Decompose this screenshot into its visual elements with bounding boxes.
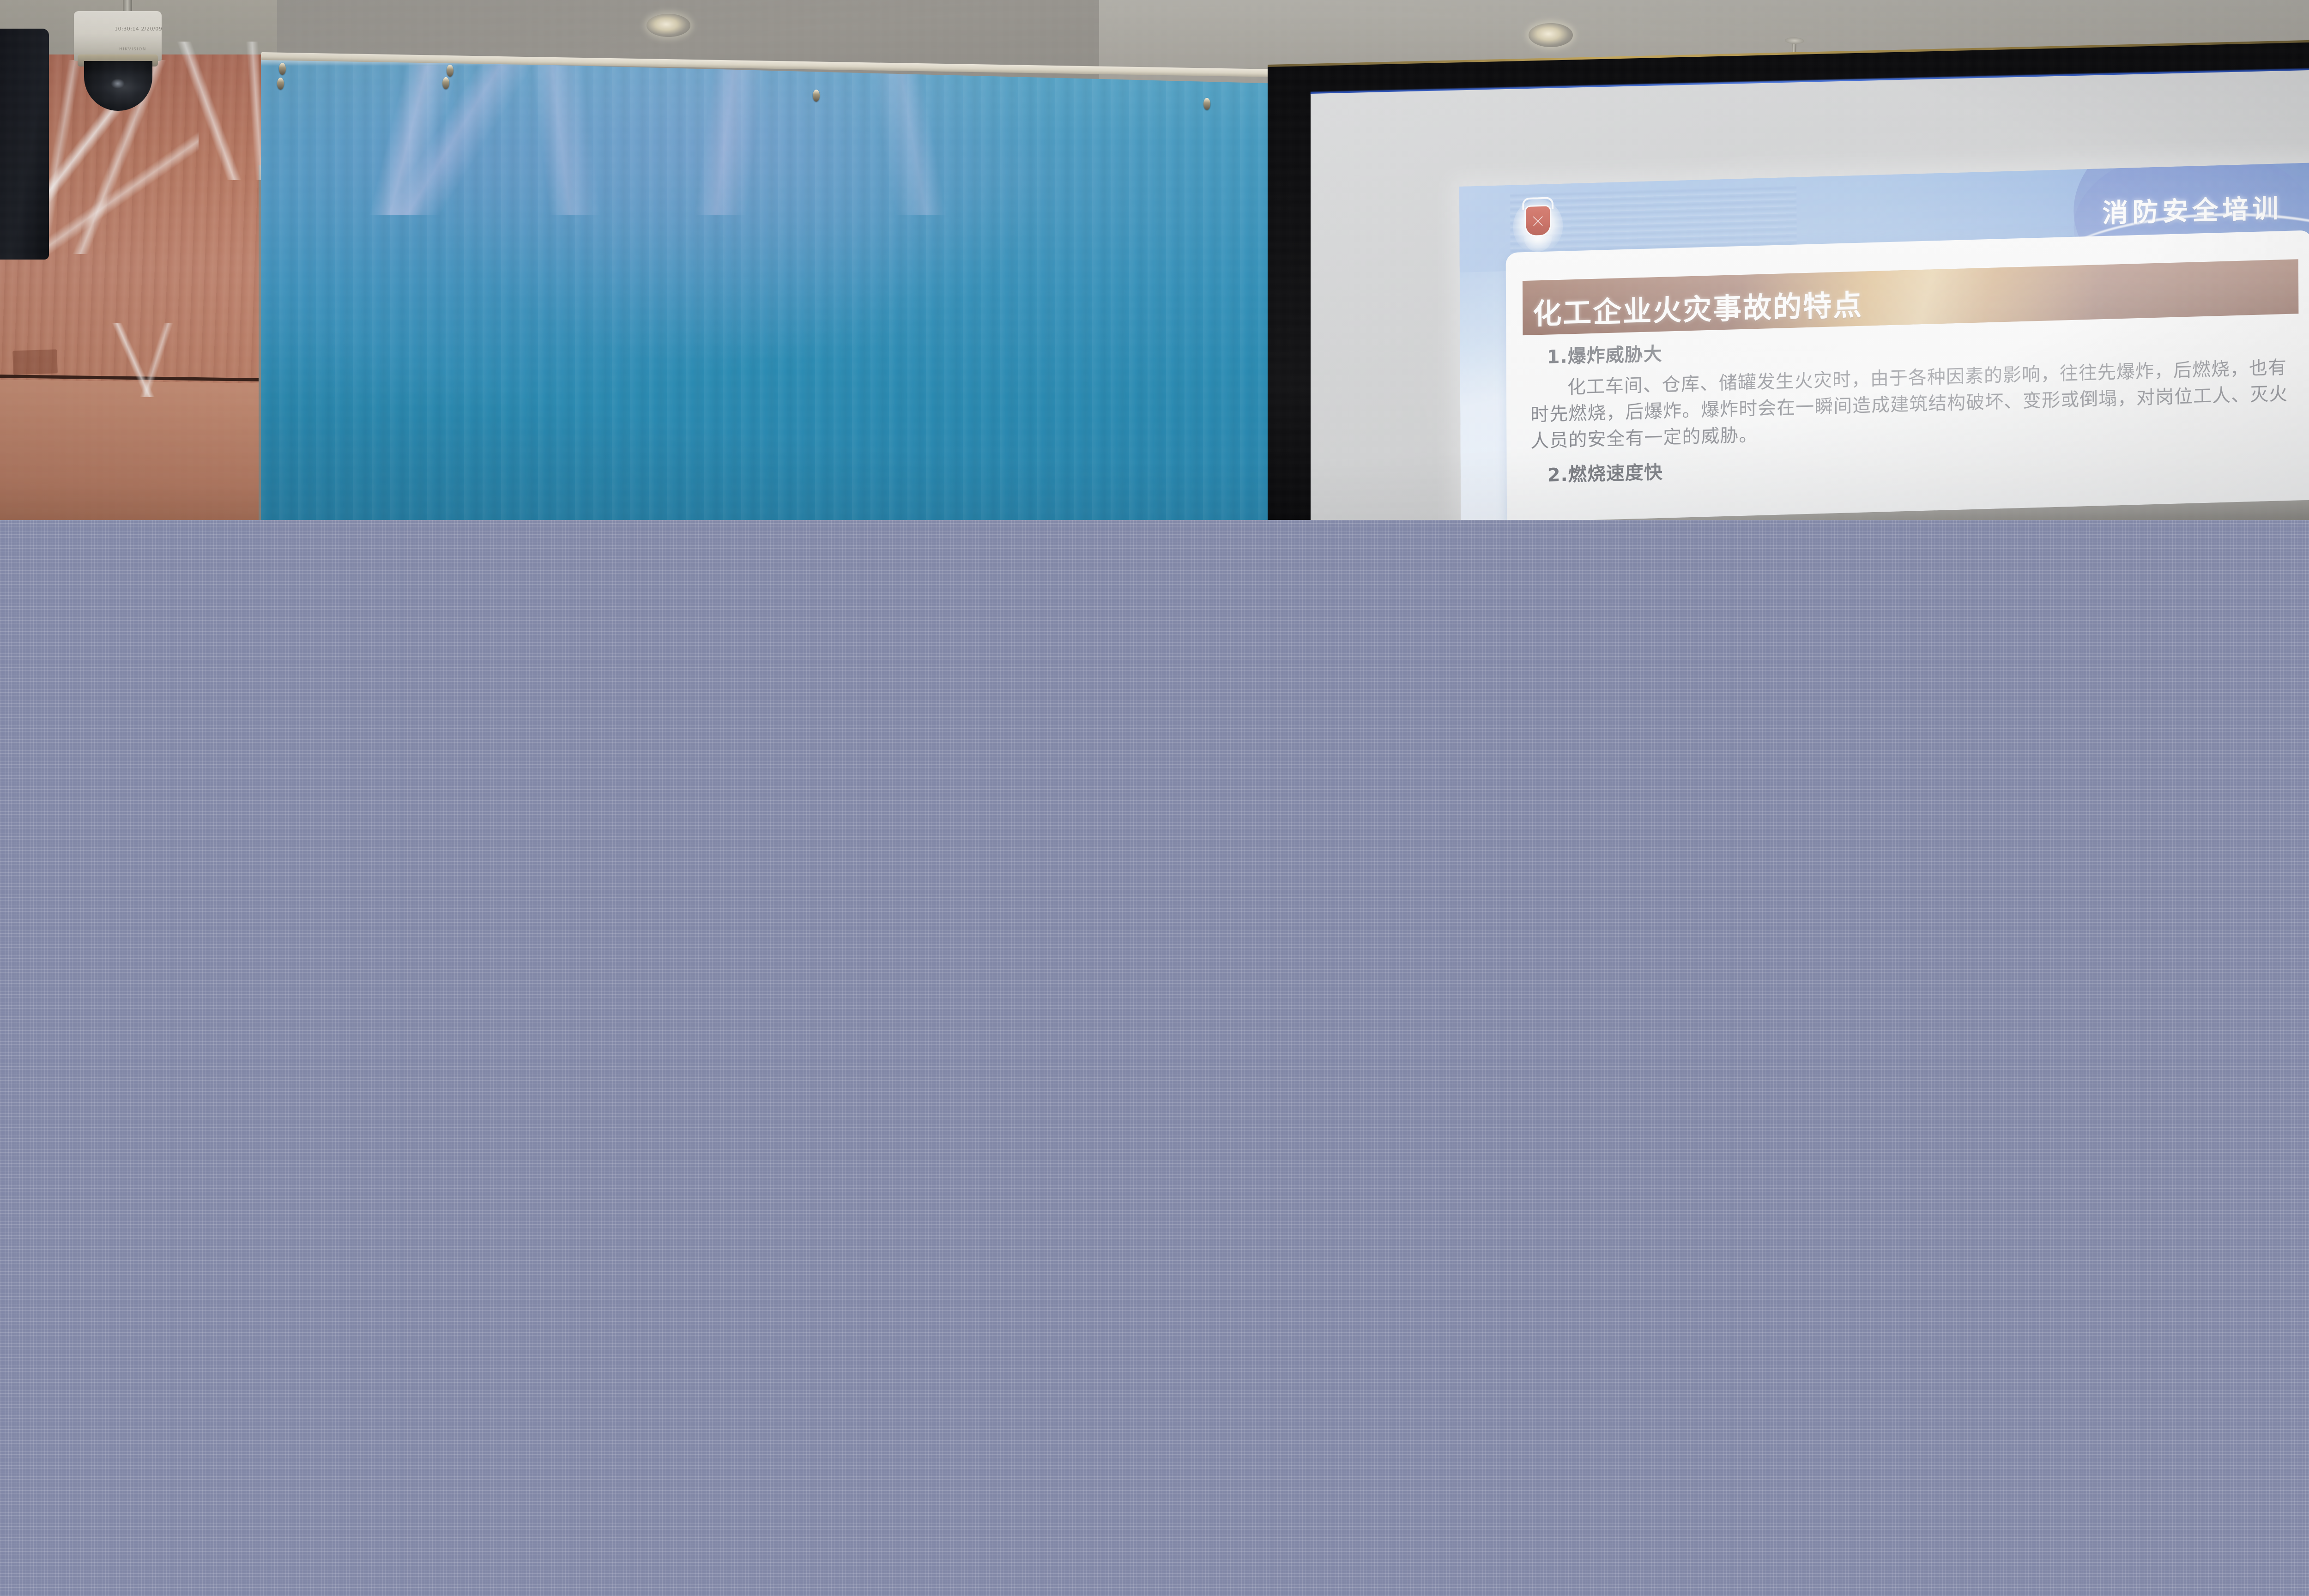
slide-header-title: 消防安全培训 <box>2102 187 2282 230</box>
camera-brand-text: HIKVISION <box>119 47 146 52</box>
dark-equipment-object <box>0 29 49 260</box>
slide-body: 1.爆炸威胁大 化工车间、仓库、储罐发生火灾时，由于各种因素的影响，往往先爆炸，… <box>1530 321 2297 524</box>
camera-housing: 10:30:14 2/20/09 HIKVISION <box>74 11 162 61</box>
slide-content-card: 化工企业火灾事故的特点 1.爆炸威胁大 化工车间、仓库、储罐发生火灾时，由于各种… <box>1506 230 2309 523</box>
slide-body-paragraph-1: 化工车间、仓库、储罐发生火灾时，由于各种因素的影响，往往先爆炸，后燃烧，也有时先… <box>1530 354 2297 454</box>
camera-dome-icon <box>84 61 152 111</box>
tarp-folds <box>261 58 1272 215</box>
badge-shield <box>1526 206 1550 236</box>
tarp-grommet <box>277 78 284 90</box>
projected-slide: 消防安全培训 化工企业火灾事故的特点 1.爆炸威胁大 化工车间、仓库、储罐发生火… <box>1459 162 2309 524</box>
downlight-icon <box>647 14 690 37</box>
tarp-grommet <box>1203 98 1210 110</box>
tarp-grommet <box>447 65 453 77</box>
fire-service-badge-icon <box>1513 196 1563 257</box>
camera-info-text: 10:30:14 2/20/09 <box>115 26 162 32</box>
tarp-grommet <box>813 90 820 102</box>
occlusion-overlay <box>0 520 2309 1596</box>
blue-tarp-partition <box>261 58 1272 524</box>
wood-panel-lower-strip <box>0 380 259 524</box>
screenshot-stage: 10:30:14 2/20/09 HIKVISION <box>0 0 2309 1596</box>
plastic-sheeting-crinkle <box>69 323 208 397</box>
slide-title-text: 化工企业火灾事故的特点 <box>1533 282 1863 332</box>
tarp-grommet <box>279 63 286 75</box>
ptz-dome-camera: 10:30:14 2/20/09 HIKVISION <box>74 5 162 106</box>
downlight-icon <box>1529 23 1573 47</box>
room-photo: 10:30:14 2/20/09 HIKVISION <box>0 0 2309 524</box>
tarp-grommet <box>442 77 449 89</box>
wood-stain-mark <box>12 349 58 375</box>
